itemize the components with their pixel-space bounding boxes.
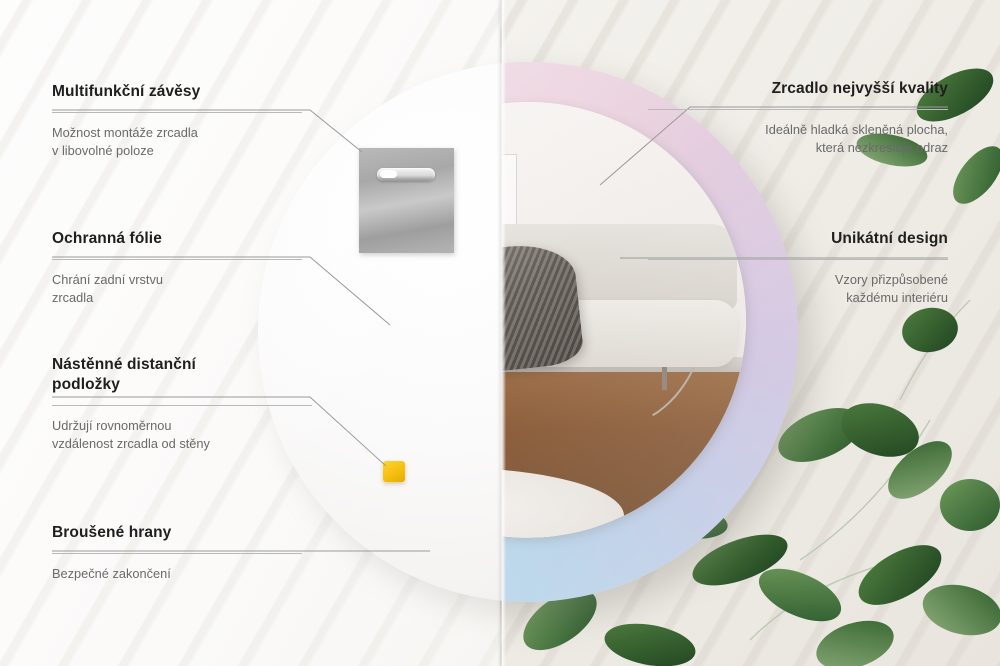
callout-zrcadlo-nejvyssi-kvality: Zrcadlo nejvyšší kvality Ideálně hladká … [648, 79, 948, 158]
callout-title: Unikátní design [648, 229, 948, 249]
callout-brousene-hrany: Broušené hrany Bezpečné zakončení [52, 523, 302, 583]
callout-title-line2: podložky [52, 375, 312, 395]
callout-title: Broušené hrany [52, 523, 302, 543]
callout-nastenne-distancni-podlozky: Nástěnné distanční podložky Udržují rovn… [52, 355, 312, 454]
callout-title: Ochranná fólie [52, 229, 302, 249]
callout-ochranna-folie: Ochranná fólie Chrání zadní vrstvu zrcad… [52, 229, 302, 308]
callout-rule [648, 109, 948, 110]
callout-desc-line2: v libovolné poloze [52, 142, 302, 161]
callout-unikatni-design: Unikátní design Vzory přizpůsobené každé… [648, 229, 948, 308]
yellow-spacer-pad-icon [383, 461, 405, 482]
callout-desc-line2: zrcadla [52, 289, 302, 308]
callout-multifunkcni-zavesy: Multifunkční závěsy Možnost montáže zrca… [52, 82, 302, 161]
callout-rule [52, 553, 302, 554]
callout-desc-line2: která nezkresluje odraz [648, 139, 948, 158]
callout-title-line1: Nástěnné distanční [52, 355, 312, 375]
callout-desc-line1: Ideálně hladká skleněná plocha, [648, 121, 948, 140]
hanger-keyhole-slot [377, 168, 435, 181]
callout-title: Zrcadlo nejvyšší kvality [648, 79, 948, 99]
callout-desc-line1: Bezpečné zakončení [52, 565, 302, 584]
callout-rule [52, 405, 312, 406]
callout-desc-line1: Vzory přizpůsobené [648, 271, 948, 290]
callout-desc-line1: Možnost montáže zrcadla [52, 124, 302, 143]
callout-desc-line1: Chrání zadní vrstvu [52, 271, 302, 290]
callout-rule [648, 259, 948, 260]
callout-rule [52, 259, 302, 260]
callout-title: Multifunkční závěsy [52, 82, 302, 102]
wall-hanger-plate-icon [359, 148, 454, 253]
callout-rule [52, 112, 302, 113]
callout-desc-line1: Udržují rovnoměrnou [52, 417, 312, 436]
callout-desc-line2: vzdálenost zrcadla od stěny [52, 435, 312, 454]
panel-divider [497, 0, 506, 666]
callout-desc-line2: každému interiéru [648, 289, 948, 308]
mirror-glass-reflection [500, 102, 746, 538]
sofa-leg [662, 367, 667, 390]
infographic-canvas: Multifunkční závěsy Možnost montáže zrca… [0, 0, 1000, 666]
